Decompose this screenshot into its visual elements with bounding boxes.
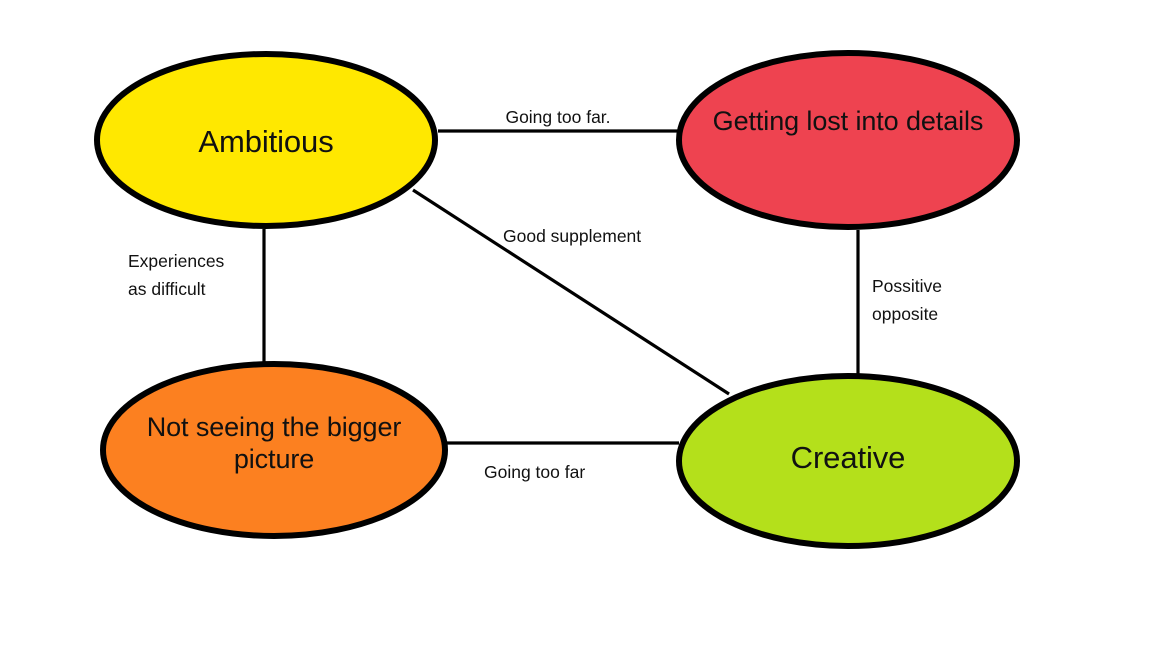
node-shapes (97, 53, 1017, 546)
diagram-svg (0, 0, 1152, 648)
node-ellipse-getting-lost-into-details[interactable] (679, 53, 1017, 227)
diagram-canvas: Ambitious Getting lost into details Not … (0, 0, 1152, 648)
node-ellipse-ambitious[interactable] (97, 54, 435, 226)
edge-line-ambitious-to-creative[interactable] (413, 190, 729, 394)
node-ellipse-not-seeing-the-bigger-picture[interactable] (103, 364, 445, 536)
node-ellipse-creative[interactable] (679, 376, 1017, 546)
